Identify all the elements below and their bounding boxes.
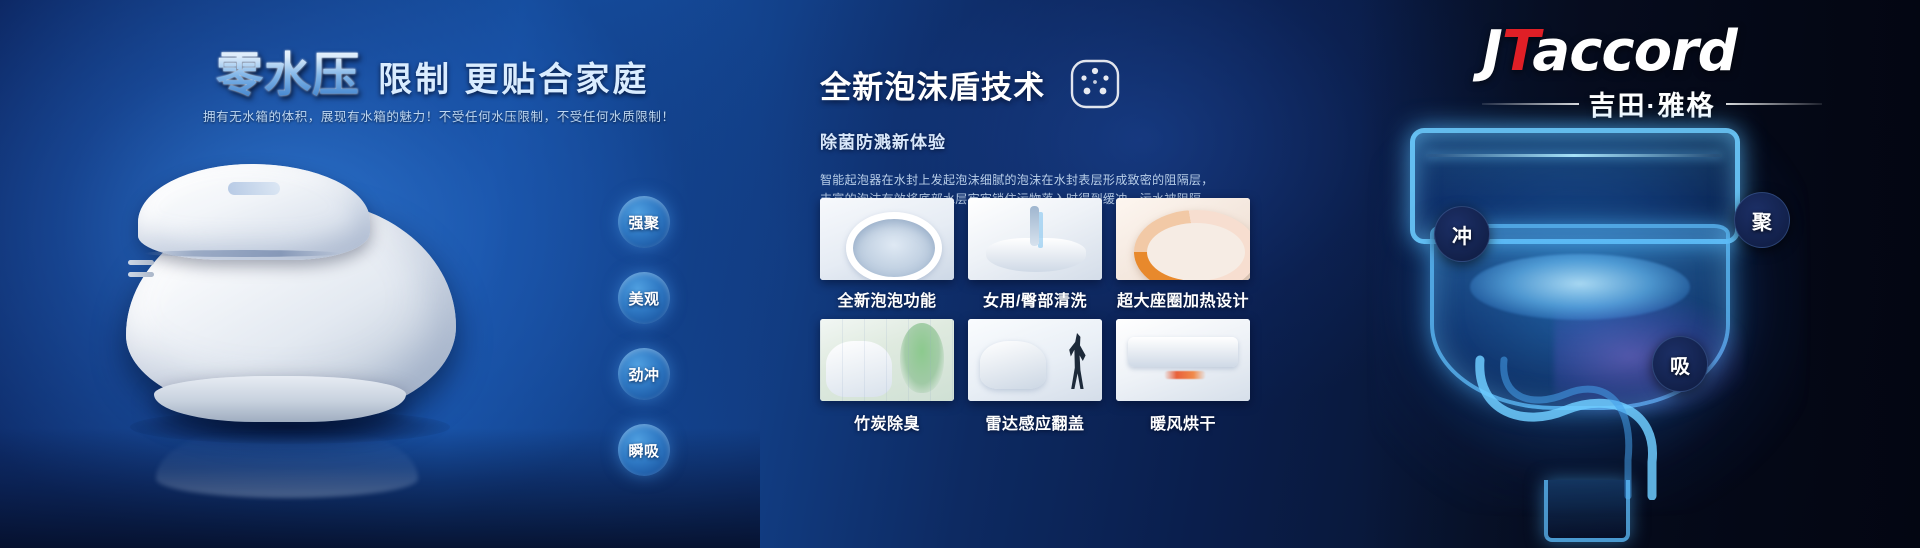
xray-water-seal xyxy=(1470,254,1690,320)
badge-label: 聚 xyxy=(1752,206,1772,235)
badge-label: 瞬吸 xyxy=(628,440,659,461)
center-title-row: 全新泡沫盾技术 xyxy=(820,56,1340,112)
badge-instant-suction[interactable]: 瞬吸 xyxy=(618,424,670,476)
toilet-side-buttons xyxy=(128,260,162,286)
feature-thumb-heated-seat xyxy=(1116,198,1250,280)
right-panel: JTaccord 吉田·雅格 冲 xyxy=(1340,0,1920,548)
logo-letter-t: T xyxy=(1502,19,1533,84)
toilet-control-panel xyxy=(228,182,280,195)
brand-logo-latin: JTaccord xyxy=(1482,24,1822,80)
brand-logo-cn: 吉田·雅格 xyxy=(1589,84,1716,123)
feature-label: 全新泡泡功能 xyxy=(820,287,954,311)
badge-label: 吸 xyxy=(1670,350,1690,379)
headline-description: 拥有无水箱的体积，展现有水箱的魅力！不受任何水压限制，不受任何水质限制！ xyxy=(203,106,675,125)
feature-label: 女用/臀部清洗 xyxy=(968,287,1102,311)
logo-letter-j: J xyxy=(1482,19,1502,84)
feature-cell-wash[interactable]: 女用/臀部清洗 xyxy=(968,198,1102,311)
headline-row: 零水压 限制 更贴合家庭 xyxy=(216,36,649,105)
left-panel: 零水压 限制 更贴合家庭 拥有无水箱的体积，展现有水箱的魅力！不受任何水压限制，… xyxy=(0,0,700,548)
badge-flush[interactable]: 冲 xyxy=(1434,206,1490,262)
badge-gather[interactable]: 聚 xyxy=(1734,192,1790,248)
xray-outlet xyxy=(1544,480,1630,542)
feature-label: 暖风烘干 xyxy=(1116,410,1250,434)
toilet-lid xyxy=(138,164,370,260)
logo-word-accord: accord xyxy=(1532,19,1736,84)
foam-bubble-icon xyxy=(1067,56,1123,112)
badge-powerful-flush[interactable]: 劲冲 xyxy=(618,348,670,400)
headline-main: 零水压 xyxy=(216,36,360,105)
brand-logo[interactable]: JTaccord 吉田·雅格 xyxy=(1482,24,1822,123)
feature-cell-foam[interactable]: 全新泡泡功能 xyxy=(820,198,954,311)
toilet-xray-cutaway-visual: 冲 聚 吸 xyxy=(1374,120,1834,530)
headline-sub: 限制 更贴合家庭 xyxy=(378,52,649,101)
badge-label: 强聚 xyxy=(628,212,659,233)
feature-thumb-dryer xyxy=(1116,319,1250,401)
feature-cell-heated-seat[interactable]: 超大座圈加热设计 xyxy=(1116,198,1250,311)
badge-label: 劲冲 xyxy=(628,364,659,385)
badge-aesthetic[interactable]: 美观 xyxy=(618,272,670,324)
brand-logo-cn-row: 吉田·雅格 xyxy=(1482,84,1822,123)
feature-cell-bamboo[interactable]: 竹炭除臭 xyxy=(820,319,954,434)
center-subtitle: 除菌防溅新体验 xyxy=(820,128,1340,153)
badge-label: 冲 xyxy=(1452,220,1472,249)
toilet-base xyxy=(154,376,406,422)
center-title: 全新泡沫盾技术 xyxy=(820,62,1045,107)
smart-toilet-product-image xyxy=(110,138,470,438)
product-promo-banner: 零水压 限制 更贴合家庭 拥有无水箱的体积，展现有水箱的魅力！不受任何水压限制，… xyxy=(0,0,1920,548)
toilet-seam xyxy=(144,250,340,257)
left-feature-badges: 强聚 美观 劲冲 瞬吸 xyxy=(618,196,670,476)
feature-label: 超大座圈加热设计 xyxy=(1116,287,1250,311)
center-panel: 全新泡沫盾技术 除菌防溅新体验 智能起泡器在水封上发起泡沫细腻的泡沫在水封表层形… xyxy=(820,0,1340,548)
logo-rule-right xyxy=(1726,103,1823,105)
feature-label: 雷达感应翻盖 xyxy=(968,410,1102,434)
feature-thumb-bamboo xyxy=(820,319,954,401)
logo-rule-left xyxy=(1482,103,1579,105)
body-line-1: 智能起泡器在水封上发起泡沫细腻的泡沫在水封表层形成致密的阻隔层， xyxy=(820,171,1220,190)
feature-thumb-radar xyxy=(968,319,1102,401)
badge-label: 美观 xyxy=(628,288,659,309)
xray-lid-line xyxy=(1426,154,1722,157)
feature-thumb-foam xyxy=(820,198,954,280)
feature-thumb-wash xyxy=(968,198,1102,280)
feature-label: 竹炭除臭 xyxy=(820,410,954,434)
feature-cell-dryer[interactable]: 暖风烘干 xyxy=(1116,319,1250,434)
feature-cell-radar[interactable]: 雷达感应翻盖 xyxy=(968,319,1102,434)
feature-thumbnail-grid: 全新泡泡功能 女用/臀部清洗 超大座圈加热设计 竹炭除臭 xyxy=(820,198,1250,434)
badge-suction[interactable]: 吸 xyxy=(1652,336,1708,392)
badge-strong-gather[interactable]: 强聚 xyxy=(618,196,670,248)
